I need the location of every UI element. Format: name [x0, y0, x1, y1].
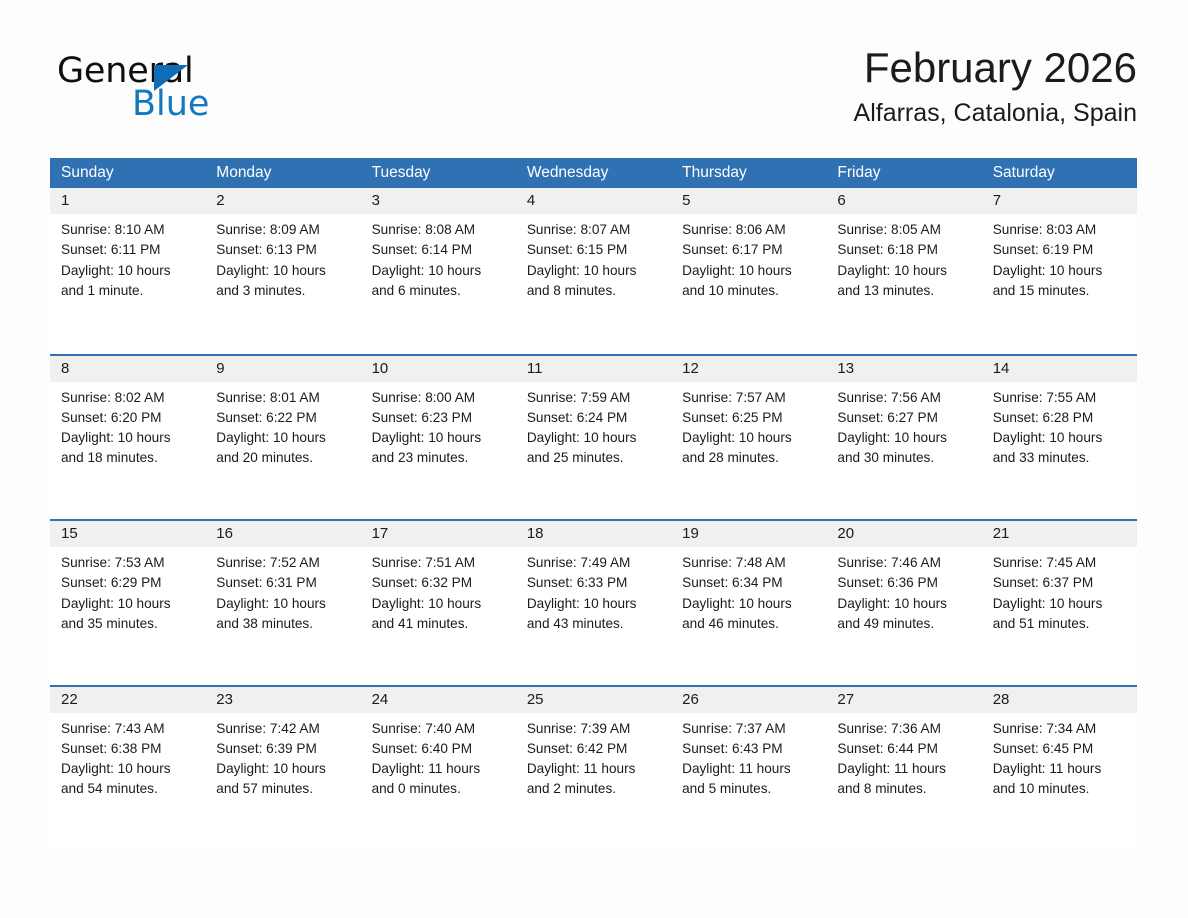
- daylight-text-line2: and 8 minutes.: [837, 779, 973, 799]
- day-details: Sunrise: 8:01 AM Sunset: 6:22 PM Dayligh…: [205, 382, 360, 469]
- day-number: 9: [205, 356, 360, 382]
- daylight-text-line2: and 20 minutes.: [216, 448, 352, 468]
- daylight-text-line1: Daylight: 10 hours: [993, 594, 1129, 614]
- sunset-text: Sunset: 6:20 PM: [61, 408, 197, 428]
- logo-text-blue: Blue: [132, 87, 209, 122]
- calendar-page: General Blue February 2026 Alfarras, Cat…: [0, 0, 1188, 918]
- sunset-text: Sunset: 6:25 PM: [682, 408, 818, 428]
- day-cell[interactable]: 21 Sunrise: 7:45 AM Sunset: 6:37 PM Dayl…: [982, 521, 1137, 685]
- daylight-text-line1: Daylight: 10 hours: [527, 261, 663, 281]
- daylight-text-line1: Daylight: 10 hours: [216, 759, 352, 779]
- daylight-text-line1: Daylight: 10 hours: [527, 428, 663, 448]
- daylight-text-line1: Daylight: 10 hours: [993, 428, 1129, 448]
- sunrise-text: Sunrise: 8:02 AM: [61, 388, 197, 408]
- day-details: Sunrise: 7:53 AM Sunset: 6:29 PM Dayligh…: [50, 547, 205, 634]
- day-details: Sunrise: 7:45 AM Sunset: 6:37 PM Dayligh…: [982, 547, 1137, 634]
- sunrise-text: Sunrise: 7:43 AM: [61, 719, 197, 739]
- daylight-text-line1: Daylight: 10 hours: [61, 759, 197, 779]
- sunrise-text: Sunrise: 7:51 AM: [372, 553, 508, 573]
- day-number: 13: [826, 356, 981, 382]
- daylight-text-line2: and 10 minutes.: [993, 779, 1129, 799]
- daylight-text-line2: and 1 minute.: [61, 281, 197, 301]
- sunrise-text: Sunrise: 7:59 AM: [527, 388, 663, 408]
- daylight-text-line1: Daylight: 10 hours: [61, 261, 197, 281]
- page-title: February 2026: [854, 44, 1137, 91]
- daylight-text-line1: Daylight: 10 hours: [216, 428, 352, 448]
- day-details: Sunrise: 8:00 AM Sunset: 6:23 PM Dayligh…: [361, 382, 516, 469]
- daylight-text-line1: Daylight: 11 hours: [527, 759, 663, 779]
- sunrise-text: Sunrise: 8:09 AM: [216, 220, 352, 240]
- sunset-text: Sunset: 6:17 PM: [682, 240, 818, 260]
- sunrise-text: Sunrise: 7:37 AM: [682, 719, 818, 739]
- sunrise-text: Sunrise: 7:56 AM: [837, 388, 973, 408]
- daylight-text-line2: and 15 minutes.: [993, 281, 1129, 301]
- day-details: Sunrise: 8:09 AM Sunset: 6:13 PM Dayligh…: [205, 214, 360, 301]
- day-cell[interactable]: 7 Sunrise: 8:03 AM Sunset: 6:19 PM Dayli…: [982, 188, 1137, 354]
- day-cell[interactable]: 16 Sunrise: 7:52 AM Sunset: 6:31 PM Dayl…: [205, 521, 360, 685]
- daylight-text-line2: and 35 minutes.: [61, 614, 197, 634]
- day-number: 12: [671, 356, 826, 382]
- daylight-text-line2: and 23 minutes.: [372, 448, 508, 468]
- sunset-text: Sunset: 6:28 PM: [993, 408, 1129, 428]
- day-number: 11: [516, 356, 671, 382]
- sunrise-text: Sunrise: 7:49 AM: [527, 553, 663, 573]
- day-number: 16: [205, 521, 360, 547]
- sunrise-text: Sunrise: 7:52 AM: [216, 553, 352, 573]
- sunset-text: Sunset: 6:19 PM: [993, 240, 1129, 260]
- day-cell[interactable]: 11 Sunrise: 7:59 AM Sunset: 6:24 PM Dayl…: [516, 356, 671, 520]
- day-details: Sunrise: 7:43 AM Sunset: 6:38 PM Dayligh…: [50, 713, 205, 800]
- day-cell[interactable]: 10 Sunrise: 8:00 AM Sunset: 6:23 PM Dayl…: [361, 356, 516, 520]
- day-details: Sunrise: 7:55 AM Sunset: 6:28 PM Dayligh…: [982, 382, 1137, 469]
- sunrise-text: Sunrise: 7:55 AM: [993, 388, 1129, 408]
- daylight-text-line1: Daylight: 10 hours: [216, 261, 352, 281]
- sunset-text: Sunset: 6:23 PM: [372, 408, 508, 428]
- day-number: 21: [982, 521, 1137, 547]
- day-cell[interactable]: 9 Sunrise: 8:01 AM Sunset: 6:22 PM Dayli…: [205, 356, 360, 520]
- week-row: 1 Sunrise: 8:10 AM Sunset: 6:11 PM Dayli…: [50, 188, 1137, 354]
- day-cell[interactable]: 18 Sunrise: 7:49 AM Sunset: 6:33 PM Dayl…: [516, 521, 671, 685]
- weekday-header-saturday: Saturday: [982, 158, 1137, 188]
- sunrise-text: Sunrise: 7:57 AM: [682, 388, 818, 408]
- day-number: 28: [982, 687, 1137, 713]
- day-cell[interactable]: 2 Sunrise: 8:09 AM Sunset: 6:13 PM Dayli…: [205, 188, 360, 354]
- day-details: Sunrise: 7:57 AM Sunset: 6:25 PM Dayligh…: [671, 382, 826, 469]
- daylight-text-line2: and 41 minutes.: [372, 614, 508, 634]
- daylight-text-line1: Daylight: 10 hours: [372, 594, 508, 614]
- daylight-text-line2: and 28 minutes.: [682, 448, 818, 468]
- day-cell[interactable]: 4 Sunrise: 8:07 AM Sunset: 6:15 PM Dayli…: [516, 188, 671, 354]
- day-number: 4: [516, 188, 671, 214]
- weekday-header-thursday: Thursday: [671, 158, 826, 188]
- weekday-header-friday: Friday: [826, 158, 981, 188]
- daylight-text-line1: Daylight: 10 hours: [61, 594, 197, 614]
- daylight-text-line1: Daylight: 11 hours: [993, 759, 1129, 779]
- day-number: 8: [50, 356, 205, 382]
- daylight-text-line1: Daylight: 10 hours: [372, 428, 508, 448]
- sunset-text: Sunset: 6:33 PM: [527, 573, 663, 593]
- day-details: Sunrise: 8:10 AM Sunset: 6:11 PM Dayligh…: [50, 214, 205, 301]
- daylight-text-line2: and 13 minutes.: [837, 281, 973, 301]
- sunset-text: Sunset: 6:45 PM: [993, 739, 1129, 759]
- week-row: 15 Sunrise: 7:53 AM Sunset: 6:29 PM Dayl…: [50, 519, 1137, 685]
- day-details: Sunrise: 7:59 AM Sunset: 6:24 PM Dayligh…: [516, 382, 671, 469]
- daylight-text-line2: and 51 minutes.: [993, 614, 1129, 634]
- daylight-text-line2: and 43 minutes.: [527, 614, 663, 634]
- day-cell[interactable]: 12 Sunrise: 7:57 AM Sunset: 6:25 PM Dayl…: [671, 356, 826, 520]
- day-details: Sunrise: 7:46 AM Sunset: 6:36 PM Dayligh…: [826, 547, 981, 634]
- sunset-text: Sunset: 6:32 PM: [372, 573, 508, 593]
- day-number: 26: [671, 687, 826, 713]
- day-cell[interactable]: 22 Sunrise: 7:43 AM Sunset: 6:38 PM Dayl…: [50, 687, 205, 851]
- day-cell[interactable]: 25 Sunrise: 7:39 AM Sunset: 6:42 PM Dayl…: [516, 687, 671, 851]
- location-subtitle: Alfarras, Catalonia, Spain: [854, 99, 1137, 127]
- sunset-text: Sunset: 6:44 PM: [837, 739, 973, 759]
- day-cell[interactable]: 14 Sunrise: 7:55 AM Sunset: 6:28 PM Dayl…: [982, 356, 1137, 520]
- daylight-text-line1: Daylight: 10 hours: [837, 428, 973, 448]
- day-cell[interactable]: 13 Sunrise: 7:56 AM Sunset: 6:27 PM Dayl…: [826, 356, 981, 520]
- daylight-text-line1: Daylight: 10 hours: [682, 261, 818, 281]
- sunset-text: Sunset: 6:37 PM: [993, 573, 1129, 593]
- day-cell[interactable]: 28 Sunrise: 7:34 AM Sunset: 6:45 PM Dayl…: [982, 687, 1137, 851]
- sunset-text: Sunset: 6:39 PM: [216, 739, 352, 759]
- daylight-text-line2: and 5 minutes.: [682, 779, 818, 799]
- generalblue-logo[interactable]: General Blue: [57, 54, 317, 134]
- day-details: Sunrise: 8:06 AM Sunset: 6:17 PM Dayligh…: [671, 214, 826, 301]
- day-details: Sunrise: 7:37 AM Sunset: 6:43 PM Dayligh…: [671, 713, 826, 800]
- day-cell[interactable]: 15 Sunrise: 7:53 AM Sunset: 6:29 PM Dayl…: [50, 521, 205, 685]
- sunset-text: Sunset: 6:36 PM: [837, 573, 973, 593]
- daylight-text-line2: and 3 minutes.: [216, 281, 352, 301]
- daylight-text-line2: and 2 minutes.: [527, 779, 663, 799]
- sunrise-text: Sunrise: 7:39 AM: [527, 719, 663, 739]
- daylight-text-line1: Daylight: 10 hours: [216, 594, 352, 614]
- daylight-text-line2: and 38 minutes.: [216, 614, 352, 634]
- sunset-text: Sunset: 6:31 PM: [216, 573, 352, 593]
- sunrise-text: Sunrise: 7:34 AM: [993, 719, 1129, 739]
- day-cell[interactable]: 27 Sunrise: 7:36 AM Sunset: 6:44 PM Dayl…: [826, 687, 981, 851]
- daylight-text-line1: Daylight: 10 hours: [61, 428, 197, 448]
- day-details: Sunrise: 8:03 AM Sunset: 6:19 PM Dayligh…: [982, 214, 1137, 301]
- daylight-text-line1: Daylight: 11 hours: [682, 759, 818, 779]
- sunset-text: Sunset: 6:24 PM: [527, 408, 663, 428]
- sunrise-text: Sunrise: 8:08 AM: [372, 220, 508, 240]
- day-details: Sunrise: 8:05 AM Sunset: 6:18 PM Dayligh…: [826, 214, 981, 301]
- week-row: 22 Sunrise: 7:43 AM Sunset: 6:38 PM Dayl…: [50, 685, 1137, 851]
- sunrise-text: Sunrise: 7:40 AM: [372, 719, 508, 739]
- daylight-text-line2: and 33 minutes.: [993, 448, 1129, 468]
- day-details: Sunrise: 7:36 AM Sunset: 6:44 PM Dayligh…: [826, 713, 981, 800]
- daylight-text-line1: Daylight: 10 hours: [682, 594, 818, 614]
- sunset-text: Sunset: 6:11 PM: [61, 240, 197, 260]
- daylight-text-line1: Daylight: 10 hours: [682, 428, 818, 448]
- day-details: Sunrise: 7:49 AM Sunset: 6:33 PM Dayligh…: [516, 547, 671, 634]
- day-details: Sunrise: 8:07 AM Sunset: 6:15 PM Dayligh…: [516, 214, 671, 301]
- daylight-text-line1: Daylight: 10 hours: [372, 261, 508, 281]
- sunrise-text: Sunrise: 8:00 AM: [372, 388, 508, 408]
- sunrise-text: Sunrise: 7:53 AM: [61, 553, 197, 573]
- sunrise-text: Sunrise: 8:07 AM: [527, 220, 663, 240]
- weekday-header-tuesday: Tuesday: [361, 158, 516, 188]
- day-number: 6: [826, 188, 981, 214]
- daylight-text-line2: and 8 minutes.: [527, 281, 663, 301]
- day-number: 19: [671, 521, 826, 547]
- day-cell[interactable]: 1 Sunrise: 8:10 AM Sunset: 6:11 PM Dayli…: [50, 188, 205, 354]
- daylight-text-line1: Daylight: 11 hours: [372, 759, 508, 779]
- day-details: Sunrise: 8:08 AM Sunset: 6:14 PM Dayligh…: [361, 214, 516, 301]
- day-details: Sunrise: 7:56 AM Sunset: 6:27 PM Dayligh…: [826, 382, 981, 469]
- day-details: Sunrise: 7:48 AM Sunset: 6:34 PM Dayligh…: [671, 547, 826, 634]
- sunrise-text: Sunrise: 7:46 AM: [837, 553, 973, 573]
- sunset-text: Sunset: 6:34 PM: [682, 573, 818, 593]
- daylight-text-line2: and 54 minutes.: [61, 779, 197, 799]
- daylight-text-line2: and 46 minutes.: [682, 614, 818, 634]
- daylight-text-line2: and 10 minutes.: [682, 281, 818, 301]
- weekday-header-monday: Monday: [205, 158, 360, 188]
- day-cell[interactable]: 24 Sunrise: 7:40 AM Sunset: 6:40 PM Dayl…: [361, 687, 516, 851]
- daylight-text-line2: and 25 minutes.: [527, 448, 663, 468]
- calendar-table: Sunday Monday Tuesday Wednesday Thursday…: [50, 158, 1137, 850]
- day-number: 2: [205, 188, 360, 214]
- sunset-text: Sunset: 6:13 PM: [216, 240, 352, 260]
- day-cell[interactable]: 26 Sunrise: 7:37 AM Sunset: 6:43 PM Dayl…: [671, 687, 826, 851]
- weekday-header-row: Sunday Monday Tuesday Wednesday Thursday…: [50, 158, 1137, 188]
- day-cell[interactable]: 19 Sunrise: 7:48 AM Sunset: 6:34 PM Dayl…: [671, 521, 826, 685]
- day-cell[interactable]: 3 Sunrise: 8:08 AM Sunset: 6:14 PM Dayli…: [361, 188, 516, 354]
- daylight-text-line1: Daylight: 11 hours: [837, 759, 973, 779]
- day-number: 27: [826, 687, 981, 713]
- day-number: 15: [50, 521, 205, 547]
- sunset-text: Sunset: 6:18 PM: [837, 240, 973, 260]
- daylight-text-line2: and 6 minutes.: [372, 281, 508, 301]
- week-row: 8 Sunrise: 8:02 AM Sunset: 6:20 PM Dayli…: [50, 354, 1137, 520]
- day-details: Sunrise: 7:42 AM Sunset: 6:39 PM Dayligh…: [205, 713, 360, 800]
- day-number: 17: [361, 521, 516, 547]
- page-header: General Blue February 2026 Alfarras, Cat…: [50, 44, 1137, 148]
- day-number: 10: [361, 356, 516, 382]
- weekday-header-sunday: Sunday: [50, 158, 205, 188]
- sunset-text: Sunset: 6:42 PM: [527, 739, 663, 759]
- daylight-text-line1: Daylight: 10 hours: [527, 594, 663, 614]
- title-block: February 2026 Alfarras, Catalonia, Spain: [854, 44, 1137, 127]
- sunrise-text: Sunrise: 7:36 AM: [837, 719, 973, 739]
- sunrise-text: Sunrise: 8:05 AM: [837, 220, 973, 240]
- daylight-text-line2: and 49 minutes.: [837, 614, 973, 634]
- sunrise-text: Sunrise: 7:48 AM: [682, 553, 818, 573]
- daylight-text-line2: and 57 minutes.: [216, 779, 352, 799]
- day-cell[interactable]: 6 Sunrise: 8:05 AM Sunset: 6:18 PM Dayli…: [826, 188, 981, 354]
- sunrise-text: Sunrise: 8:03 AM: [993, 220, 1129, 240]
- day-number: 3: [361, 188, 516, 214]
- day-cell[interactable]: 17 Sunrise: 7:51 AM Sunset: 6:32 PM Dayl…: [361, 521, 516, 685]
- day-number: 18: [516, 521, 671, 547]
- sunset-text: Sunset: 6:43 PM: [682, 739, 818, 759]
- sunrise-text: Sunrise: 8:10 AM: [61, 220, 197, 240]
- sunrise-text: Sunrise: 8:01 AM: [216, 388, 352, 408]
- sunrise-text: Sunrise: 7:45 AM: [993, 553, 1129, 573]
- day-number: 22: [50, 687, 205, 713]
- day-details: Sunrise: 7:51 AM Sunset: 6:32 PM Dayligh…: [361, 547, 516, 634]
- sunset-text: Sunset: 6:38 PM: [61, 739, 197, 759]
- daylight-text-line2: and 0 minutes.: [372, 779, 508, 799]
- day-cell[interactable]: 8 Sunrise: 8:02 AM Sunset: 6:20 PM Dayli…: [50, 356, 205, 520]
- day-number: 23: [205, 687, 360, 713]
- day-details: Sunrise: 7:39 AM Sunset: 6:42 PM Dayligh…: [516, 713, 671, 800]
- sunset-text: Sunset: 6:22 PM: [216, 408, 352, 428]
- sunrise-text: Sunrise: 7:42 AM: [216, 719, 352, 739]
- sunset-text: Sunset: 6:29 PM: [61, 573, 197, 593]
- daylight-text-line1: Daylight: 10 hours: [993, 261, 1129, 281]
- daylight-text-line1: Daylight: 10 hours: [837, 594, 973, 614]
- day-number: 25: [516, 687, 671, 713]
- day-details: Sunrise: 7:52 AM Sunset: 6:31 PM Dayligh…: [205, 547, 360, 634]
- day-number: 5: [671, 188, 826, 214]
- day-number: 20: [826, 521, 981, 547]
- day-cell[interactable]: 5 Sunrise: 8:06 AM Sunset: 6:17 PM Dayli…: [671, 188, 826, 354]
- day-number: 1: [50, 188, 205, 214]
- daylight-text-line1: Daylight: 10 hours: [837, 261, 973, 281]
- day-number: 14: [982, 356, 1137, 382]
- day-details: Sunrise: 7:34 AM Sunset: 6:45 PM Dayligh…: [982, 713, 1137, 800]
- sunset-text: Sunset: 6:15 PM: [527, 240, 663, 260]
- day-cell[interactable]: 23 Sunrise: 7:42 AM Sunset: 6:39 PM Dayl…: [205, 687, 360, 851]
- sunrise-text: Sunrise: 8:06 AM: [682, 220, 818, 240]
- day-number: 24: [361, 687, 516, 713]
- day-number: 7: [982, 188, 1137, 214]
- daylight-text-line2: and 30 minutes.: [837, 448, 973, 468]
- sunset-text: Sunset: 6:27 PM: [837, 408, 973, 428]
- weekday-header-wednesday: Wednesday: [516, 158, 671, 188]
- sunset-text: Sunset: 6:40 PM: [372, 739, 508, 759]
- sunset-text: Sunset: 6:14 PM: [372, 240, 508, 260]
- day-details: Sunrise: 7:40 AM Sunset: 6:40 PM Dayligh…: [361, 713, 516, 800]
- day-cell[interactable]: 20 Sunrise: 7:46 AM Sunset: 6:36 PM Dayl…: [826, 521, 981, 685]
- daylight-text-line2: and 18 minutes.: [61, 448, 197, 468]
- day-details: Sunrise: 8:02 AM Sunset: 6:20 PM Dayligh…: [50, 382, 205, 469]
